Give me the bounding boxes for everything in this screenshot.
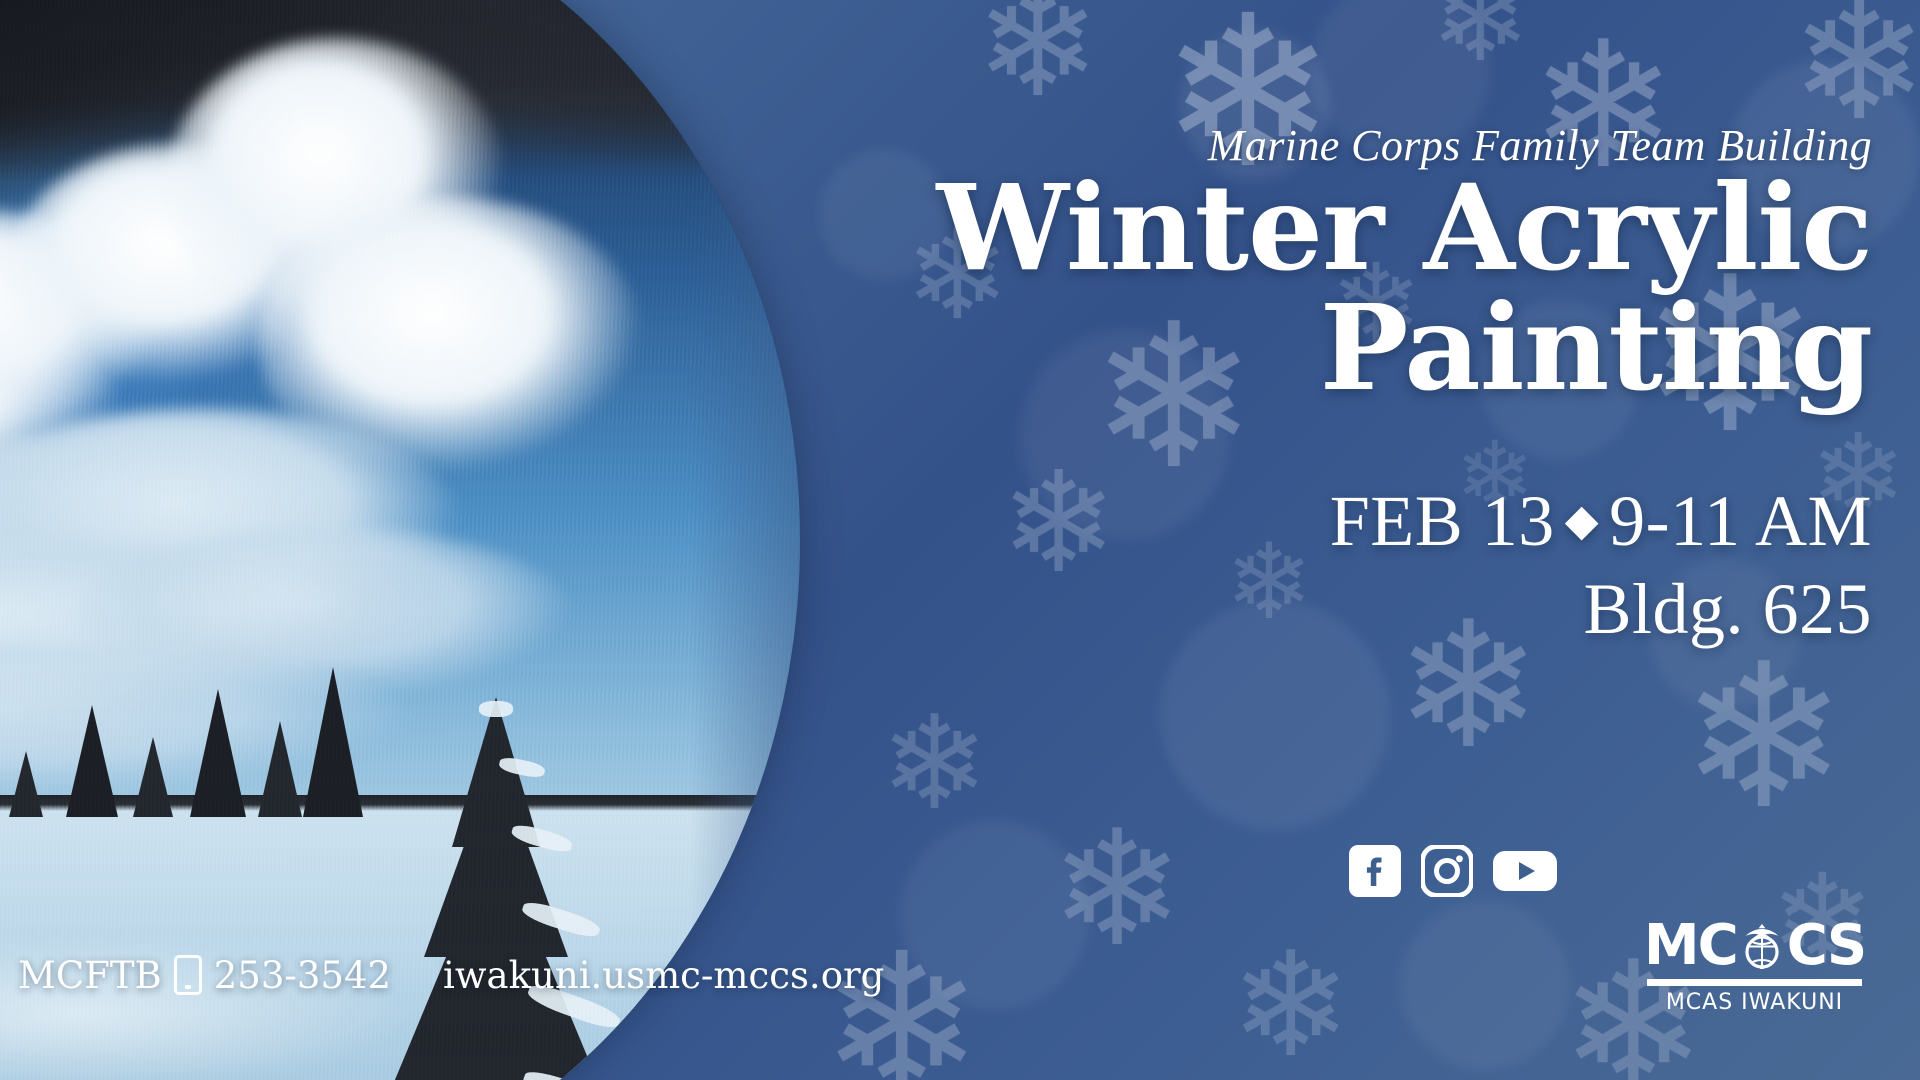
winter-night-landscape-painting	[0, 0, 800, 1080]
mccs-divider	[1647, 979, 1862, 986]
event-time: 9-11 AM	[1609, 481, 1872, 561]
footer: MCFTB 253-3542 iwakuni.usmc-mccs.org MC	[0, 930, 1920, 1020]
title-line-1: Winter Acrylic	[936, 158, 1872, 297]
website-url[interactable]: iwakuni.usmc-mccs.org	[443, 954, 884, 997]
mccs-wordmark: MC CS	[1647, 918, 1862, 974]
event-details: FEB 13◆9-11 AM Bldg. 625	[762, 478, 1872, 654]
social-links	[1349, 845, 1545, 897]
painting-texture	[0, 0, 800, 1080]
phone-number: 253-3542	[214, 954, 391, 997]
diamond-separator-icon: ◆	[1555, 496, 1609, 545]
page-title: Winter Acrylic Painting	[762, 168, 1872, 409]
eagle-globe-anchor-icon	[1736, 920, 1788, 972]
mccs-installation-label: MCAS IWAKUNI	[1647, 990, 1862, 1015]
youtube-icon[interactable]	[1493, 845, 1545, 897]
facebook-icon[interactable]	[1349, 845, 1401, 897]
phone-row: MCFTB 253-3542	[18, 954, 391, 997]
painting-canvas	[0, 0, 800, 1080]
poster-canvas: ❄ ❄ ❄ ❄ ❄ ❄ ❄ ❄ ❄ ❄ ❄ ❄ ❄ ❄ ❄ ❄ ❄ ❄ ❄ ❄ …	[0, 0, 1920, 1080]
instagram-icon[interactable]	[1421, 845, 1473, 897]
title-line-2: Painting	[762, 288, 1872, 408]
mobile-phone-icon	[174, 955, 202, 995]
contact-info: MCFTB 253-3542 iwakuni.usmc-mccs.org	[18, 954, 884, 997]
mccs-mark-left: MC	[1644, 918, 1737, 974]
mccs-mark-right: CS	[1787, 918, 1865, 974]
event-location: Bldg. 625	[762, 566, 1872, 654]
mccs-logo: MC CS MCAS IWAKUNI	[1647, 918, 1862, 1015]
event-date: FEB 13	[1330, 481, 1555, 561]
office-label: MCFTB	[18, 954, 162, 997]
